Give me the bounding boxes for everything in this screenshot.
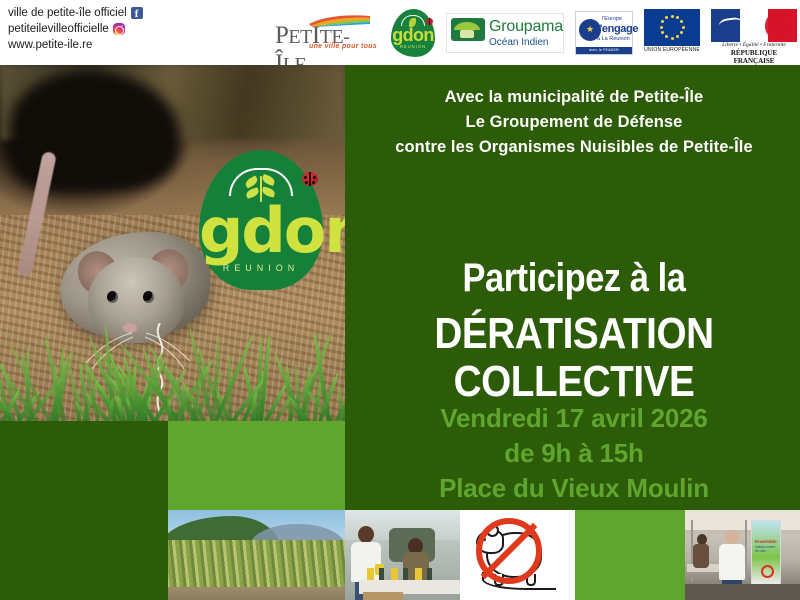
- green-accent-block: [168, 421, 345, 510]
- outdoor-event-stand-photo: Ensemble luttons contre les rats: [685, 510, 800, 600]
- mouse-eye-right: [143, 291, 154, 303]
- logo-petite-ile: PETITE-ÎLE une ville pour tous: [275, 11, 380, 55]
- poster: ville de petite-île officiel petiteilevi…: [0, 0, 800, 600]
- market-stand-people-photo: [345, 510, 460, 600]
- rf-devise: Liberté • Égalité • Fraternité: [711, 42, 797, 48]
- logo-republique-francaise: Liberté • Égalité • Fraternité RÉPUBLIQU…: [711, 9, 797, 57]
- head: [358, 526, 374, 543]
- roll-up-banner: Ensemble luttons contre les rats: [751, 520, 781, 592]
- title-line-1: Participez à la: [380, 257, 769, 299]
- head: [725, 530, 739, 545]
- eu-caption: UNION EUROPÉENNE: [644, 47, 700, 53]
- social-links: ville de petite-île officiel petiteilevi…: [8, 5, 198, 53]
- french-flag-icon: [711, 9, 797, 42]
- petite-ile-tagline: une ville pour tous: [309, 43, 377, 50]
- gdon-badge-subtitle: REUNION: [199, 263, 323, 273]
- website-line[interactable]: www.petite-ile.re: [8, 37, 198, 53]
- sugarcane-field-photo: [168, 510, 345, 600]
- main-copy: Avec la municipalité de Petite-Île Le Gr…: [348, 65, 800, 421]
- intro-line-1: Avec la municipalité de Petite-Île: [348, 85, 800, 110]
- ladybug-icon: [302, 172, 318, 186]
- no-rat-sign: [460, 510, 575, 600]
- instagram-icon[interactable]: [113, 23, 125, 35]
- website-label: www.petite-ile.re: [8, 37, 92, 53]
- torso: [719, 544, 745, 580]
- europe-line1: l'Europe: [602, 16, 622, 22]
- europe-stars-icon: ★: [586, 25, 594, 34]
- bait-containers: [367, 568, 437, 580]
- photo-strip: Ensemble luttons contre les rats: [0, 510, 800, 600]
- logo-groupama: Groupama Océan Indien: [446, 13, 564, 53]
- rf-caption: RÉPUBLIQUE FRANÇAISE: [711, 49, 797, 65]
- tent-pole-right: [745, 520, 747, 582]
- event-details: Vendredi 17 avril 2026 de 9h à 15h Place…: [348, 401, 800, 506]
- europe-line3: à La Réunion: [597, 36, 630, 42]
- event-time: de 9h à 15h: [348, 436, 800, 471]
- carton-box: [363, 592, 403, 600]
- intro-block: Avec la municipalité de Petite-Île Le Gr…: [348, 85, 800, 160]
- marianne-profile-icon: [718, 16, 744, 35]
- gdon-wordmark: gdon: [391, 26, 435, 44]
- eu-stars-icon: [644, 9, 700, 46]
- ground: [685, 584, 800, 600]
- eu-flag-icon: [644, 9, 700, 46]
- facebook-handle-line[interactable]: ville de petite-île officiel: [8, 5, 198, 21]
- banner-no-rat-icon: [761, 565, 774, 578]
- facebook-icon[interactable]: [131, 7, 143, 19]
- marianne-icon: [765, 12, 791, 39]
- grass-blades: [0, 311, 345, 421]
- torso: [693, 544, 709, 568]
- logo-gdon: gdon REUNION: [391, 9, 435, 57]
- logo-union-europeenne: UNION EUROPÉENNE: [644, 9, 700, 57]
- intro-line-2: Le Groupement de Défense: [348, 110, 800, 135]
- mouse-photo: gdon REUNION: [0, 65, 345, 421]
- gdon-subtitle: REUNION: [391, 44, 435, 49]
- partner-logos: PETITE-ÎLE une ville pour tous gdon REUN…: [275, 4, 800, 62]
- europe-footer: avec le FEADER: [576, 47, 632, 54]
- green-filler-block: [575, 510, 685, 600]
- europe-line2: s'engage: [594, 23, 638, 35]
- logo-europe-sengage: ★ l'Europe s'engage à La Réunion avec le…: [575, 11, 633, 55]
- event-date: Vendredi 17 avril 2026: [348, 401, 800, 436]
- intro-line-3: contre les Organismes Nuisibles de Petit…: [348, 135, 800, 160]
- facebook-handle-label: ville de petite-île officiel: [8, 5, 127, 21]
- mouse-eye-left: [107, 291, 118, 303]
- gdon-badge-wordmark: gdon: [199, 200, 323, 262]
- banner-title: Ensemble: [755, 539, 777, 544]
- ground: [168, 587, 345, 600]
- title-line-2: DÉRATISATION COLLECTIVE: [375, 310, 773, 406]
- ladybug-icon: [426, 18, 433, 25]
- groupama-subtitle: Océan Indien: [489, 37, 549, 48]
- instagram-handle-label: petiteilevilleofficielle: [8, 21, 109, 37]
- gdon-badge: gdon REUNION: [199, 150, 323, 290]
- header: ville de petite-île officiel petiteilevi…: [0, 0, 800, 65]
- banner-subtitle: luttons contre les rats: [755, 545, 780, 554]
- person-background: [693, 534, 709, 568]
- event-location: Place du Vieux Moulin: [348, 471, 800, 506]
- groupama-wordmark: Groupama: [489, 18, 563, 36]
- groupama-mark-icon: [451, 18, 485, 41]
- instagram-handle-line[interactable]: petiteilevilleofficielle: [8, 21, 198, 37]
